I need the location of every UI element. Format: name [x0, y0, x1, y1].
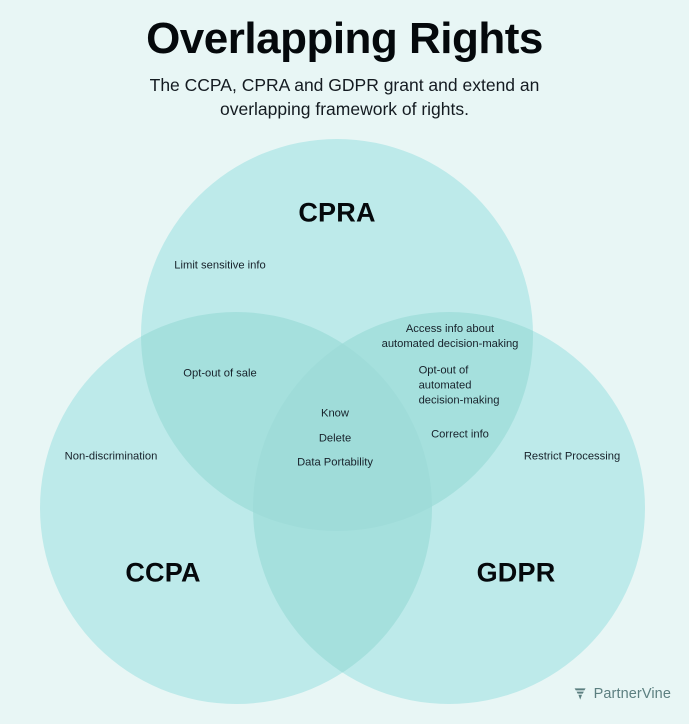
right-label-opt-out-automated-decision-making: Opt-out of automated decision-making — [419, 364, 500, 409]
header: Overlapping Rights The CCPA, CPRA and GD… — [0, 0, 689, 122]
right-label-delete: Delete — [319, 432, 351, 447]
brand-name: PartnerVine — [594, 686, 671, 702]
page-subtitle: The CCPA, CPRA and GDPR grant and extend… — [110, 74, 580, 122]
circle-label-gdpr: GDPR — [477, 558, 556, 589]
right-label-opt-out-of-sale: Opt-out of sale — [183, 367, 256, 382]
right-label-non-discrimination: Non-discrimination — [65, 450, 158, 465]
right-label-access-info-automated-decision-making: Access info about automated decision-mak… — [382, 322, 519, 352]
right-label-limit-sensitive-info: Limit sensitive info — [174, 259, 265, 274]
right-label-restrict-processing: Restrict Processing — [524, 450, 620, 465]
circle-label-cpra: CPRA — [298, 198, 375, 229]
infographic-root: CPRA CCPA GDPR Limit sensitive info Acce… — [0, 0, 689, 724]
leaf-arrow-icon — [572, 686, 588, 702]
right-label-data-portability: Data Portability — [297, 456, 373, 471]
right-label-correct-info: Correct info — [431, 428, 489, 443]
circle-label-ccpa: CCPA — [125, 558, 200, 589]
right-label-know: Know — [321, 407, 349, 422]
brand-logo[interactable]: PartnerVine — [572, 686, 671, 702]
page-title: Overlapping Rights — [0, 14, 689, 64]
